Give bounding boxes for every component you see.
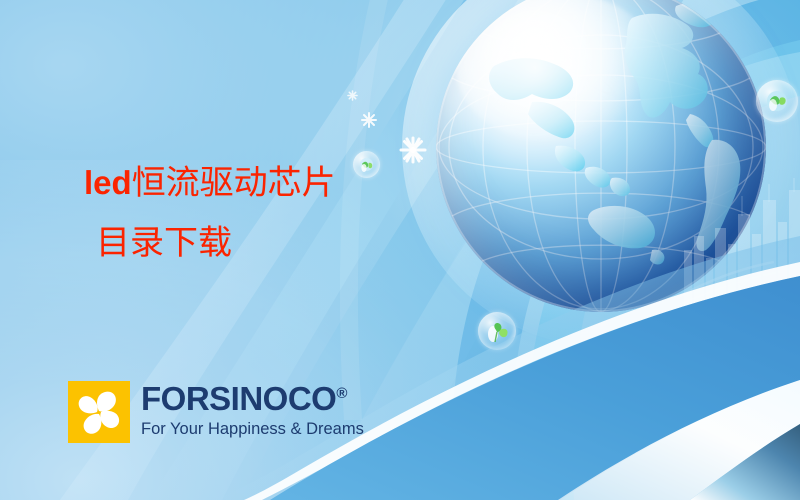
sparkle-asterisk-upper — [361, 112, 377, 128]
city-skyline-icon — [680, 176, 800, 306]
bubble-globe-icon-right — [756, 80, 798, 122]
registered-mark: ® — [336, 385, 347, 402]
bubble-leaf-motif — [478, 312, 516, 350]
brand-logo: FORSINOCO® For Your Happiness & Dreams — [68, 381, 364, 443]
four-petal-pinwheel-icon — [68, 381, 130, 443]
sparkle-asterisk-small — [347, 90, 358, 101]
brand-tagline: For Your Happiness & Dreams — [141, 421, 364, 438]
sparkle-asterisk-left — [399, 136, 427, 164]
banner-poster: led恒流驱动芯片 目录下载 FORSINOCO® For Your Happi… — [0, 0, 800, 500]
headline-line-2: 目录下载 — [96, 226, 504, 260]
brand-name-text: FORSINOCO — [141, 380, 336, 417]
brand-name: FORSINOCO® — [141, 382, 364, 415]
headline-text: led恒流驱动芯片 目录下载 — [84, 166, 504, 260]
headline-latin: led — [84, 164, 132, 201]
bubble-leaf-icon-lower — [478, 312, 516, 350]
pinwheel-petals — [68, 381, 130, 443]
bubble-globe-motif — [756, 80, 798, 122]
headline-line-1: led恒流驱动芯片 — [84, 166, 504, 200]
logo-wordmark: FORSINOCO® For Your Happiness & Dreams — [141, 381, 364, 438]
headline-cjk: 恒流驱动芯片 — [132, 163, 336, 203]
